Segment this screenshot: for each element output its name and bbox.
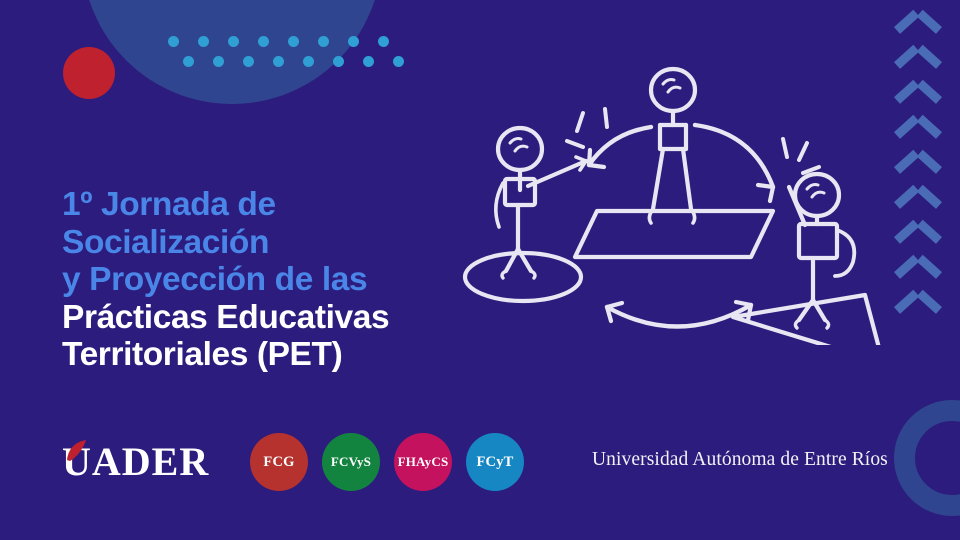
chevron-up-icon bbox=[896, 20, 940, 46]
arrow-center-to-right bbox=[695, 125, 773, 201]
chevron-up-icon bbox=[896, 55, 940, 81]
uader-logo: UADER bbox=[62, 439, 214, 485]
chevron-up-icon bbox=[896, 300, 940, 326]
dot-icon bbox=[348, 36, 359, 47]
red-circle-icon bbox=[63, 47, 115, 99]
dot-icon bbox=[258, 36, 269, 47]
dot-icon bbox=[213, 56, 224, 67]
spark-left bbox=[567, 109, 607, 147]
figure-center bbox=[575, 69, 773, 257]
dot-icon bbox=[318, 36, 329, 47]
chevron-up-icon-column bbox=[896, 20, 944, 340]
faculty-badge-fcg: FCG bbox=[250, 433, 308, 491]
dot-icon bbox=[243, 56, 254, 67]
chevron-up-icon bbox=[896, 195, 940, 221]
dot-icon bbox=[198, 36, 209, 47]
title-line-4: Prácticas Educativas bbox=[62, 299, 532, 337]
faculty-badge-fhaycs: FHAyCS bbox=[394, 433, 452, 491]
university-name: Universidad Autónoma de Entre Ríos bbox=[592, 449, 888, 471]
uader-wordmark: UADER bbox=[62, 442, 209, 482]
chevron-up-icon bbox=[896, 160, 940, 186]
dot-icon bbox=[303, 56, 314, 67]
spark-right bbox=[783, 139, 819, 173]
faculty-badges: FCGFCVySFHAyCSFCyT bbox=[250, 433, 524, 491]
dot-icon bbox=[393, 56, 404, 67]
arrow-bottom-double bbox=[607, 302, 751, 327]
dot-icon bbox=[168, 36, 179, 47]
dot-icon bbox=[288, 36, 299, 47]
faculty-badge-fcvys: FCVyS bbox=[322, 433, 380, 491]
dot-icon bbox=[363, 56, 374, 67]
dot-icon bbox=[273, 56, 284, 67]
chevron-up-icon bbox=[896, 230, 940, 256]
dot-grid-icon bbox=[168, 36, 408, 76]
arrow-center-to-left bbox=[589, 127, 651, 167]
title-line-3: y Proyección de las bbox=[62, 261, 532, 299]
circle-blob-icon bbox=[82, 0, 382, 104]
dot-icon bbox=[183, 56, 194, 67]
title-line-1: 1º Jornada de bbox=[62, 186, 532, 224]
chevron-up-icon bbox=[896, 265, 940, 291]
dot-icon bbox=[378, 36, 389, 47]
chevron-up-icon bbox=[896, 125, 940, 151]
ring-shape-icon bbox=[894, 400, 960, 516]
page-title: 1º Jornada de Socialización y Proyección… bbox=[62, 186, 532, 374]
title-line-5: Territoriales (PET) bbox=[62, 336, 532, 374]
brand-row: UADER FCGFCVySFHAyCSFCyT bbox=[62, 432, 524, 492]
dot-icon bbox=[333, 56, 344, 67]
chevron-up-icon bbox=[896, 90, 940, 116]
faculty-badge-fcyt: FCyT bbox=[466, 433, 524, 491]
title-line-2: Socialización bbox=[62, 224, 532, 262]
figure-right bbox=[733, 174, 883, 345]
dot-icon bbox=[228, 36, 239, 47]
event-banner: 1º Jornada de Socialización y Proyección… bbox=[0, 0, 960, 540]
